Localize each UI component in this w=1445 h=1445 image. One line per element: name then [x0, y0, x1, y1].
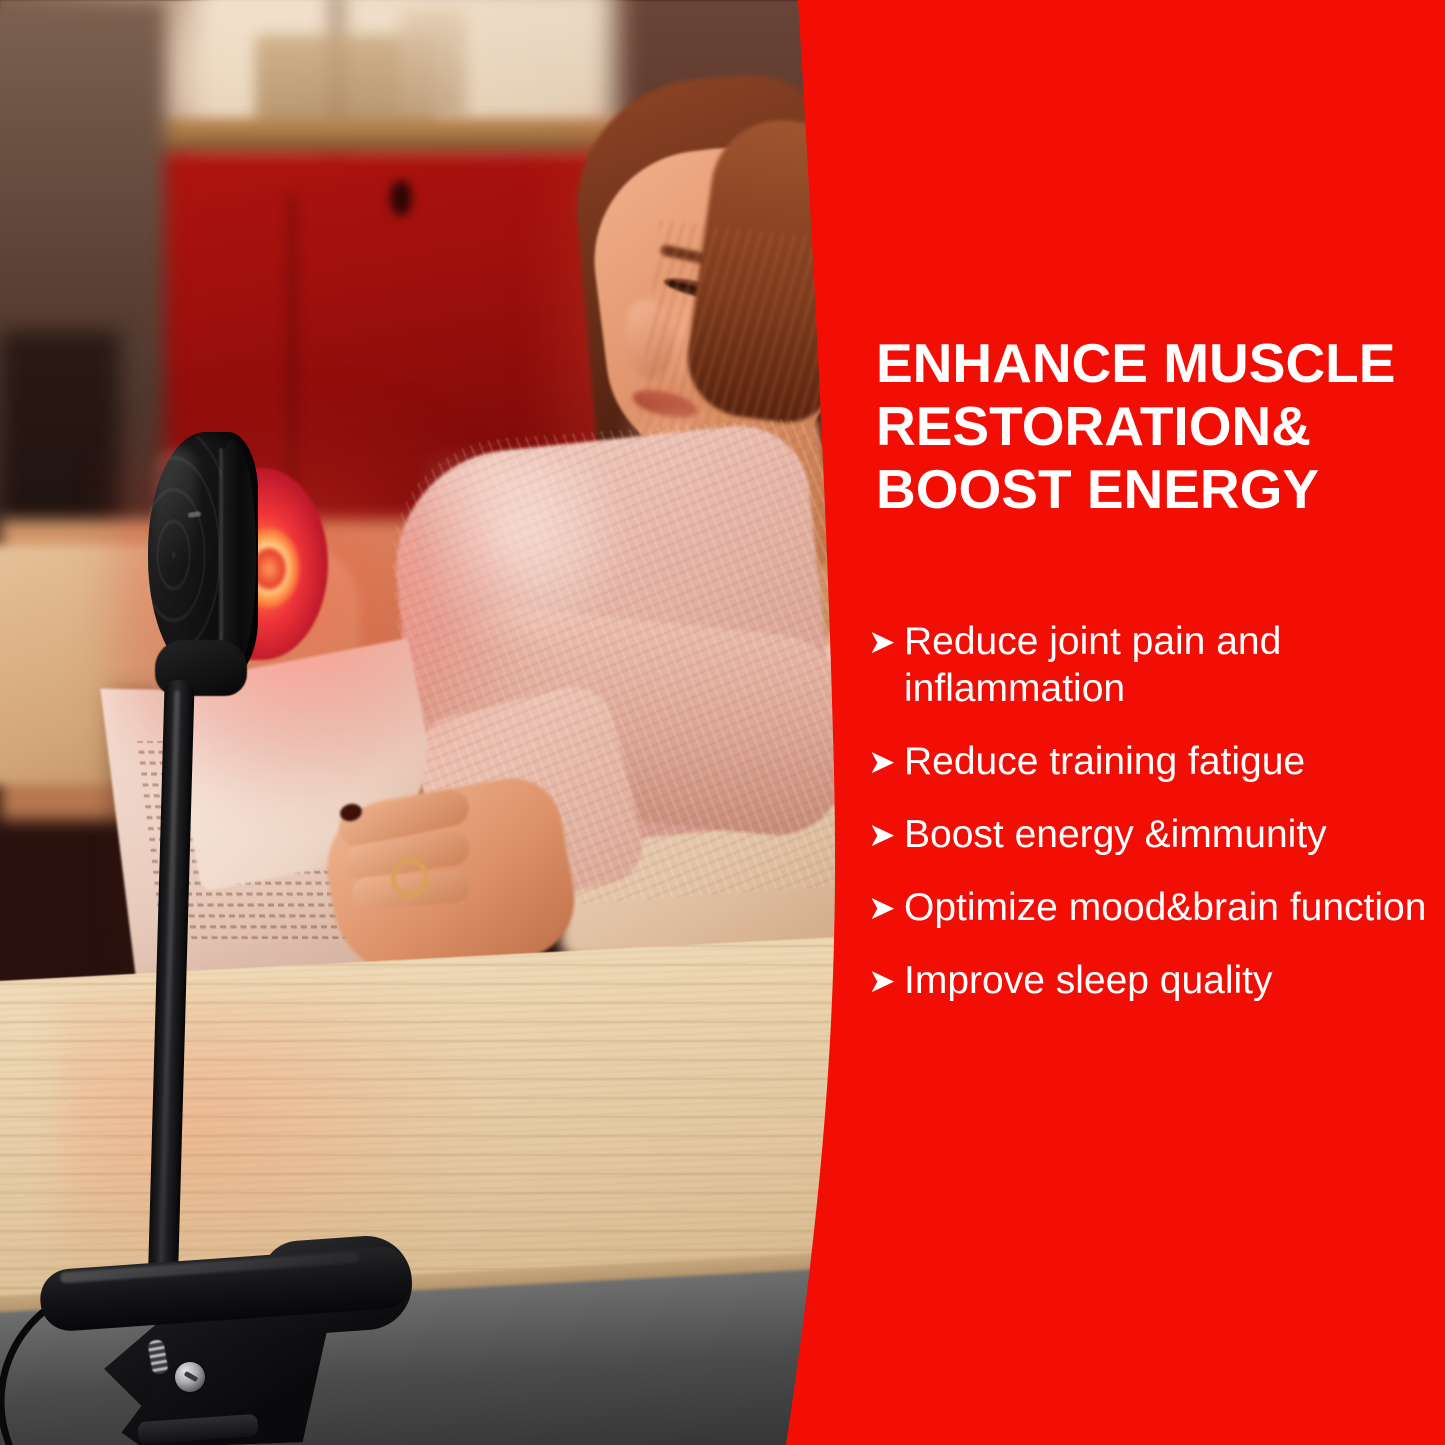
- lamp-head-seam: [219, 448, 223, 662]
- headline: ENHANCE MUSCLE RESTORATION& BOOST ENERGY: [876, 332, 1416, 521]
- benefit-item: ➤ Boost energy &immunity: [868, 811, 1428, 858]
- arrow-bullet-icon: ➤: [868, 957, 904, 1004]
- sweater-highlight: [430, 460, 630, 650]
- benefits-list: ➤ Reduce joint pain and inflammation ➤ R…: [868, 618, 1428, 1030]
- benefit-label: Improve sleep quality: [904, 957, 1428, 1004]
- headline-line-2: RESTORATION&: [876, 395, 1416, 458]
- arrow-bullet-icon: ➤: [868, 618, 904, 665]
- arrow-bullet-icon: ➤: [868, 884, 904, 931]
- benefit-label: Reduce joint pain and inflammation: [904, 618, 1428, 712]
- cabinet-knob: [390, 180, 412, 216]
- shelf-jar: [400, 10, 466, 120]
- lamp-head-highlight: [154, 448, 196, 618]
- headline-line-1: ENHANCE MUSCLE: [876, 332, 1416, 395]
- arrow-bullet-icon: ➤: [868, 738, 904, 785]
- benefit-item: ➤ Improve sleep quality: [868, 957, 1428, 1004]
- benefit-label: Reduce training fatigue: [904, 738, 1428, 785]
- headline-line-3: BOOST ENERGY: [876, 458, 1416, 521]
- benefit-label: Optimize mood&brain function: [904, 884, 1428, 931]
- product-marketing-poster: ENHANCE MUSCLE RESTORATION& BOOST ENERGY…: [0, 0, 1445, 1445]
- benefit-item: ➤ Optimize mood&brain function: [868, 884, 1428, 931]
- benefit-item: ➤ Reduce training fatigue: [868, 738, 1428, 785]
- arrow-bullet-icon: ➤: [868, 811, 904, 858]
- benefit-item: ➤ Reduce joint pain and inflammation: [868, 618, 1428, 712]
- benefit-label: Boost energy &immunity: [904, 811, 1428, 858]
